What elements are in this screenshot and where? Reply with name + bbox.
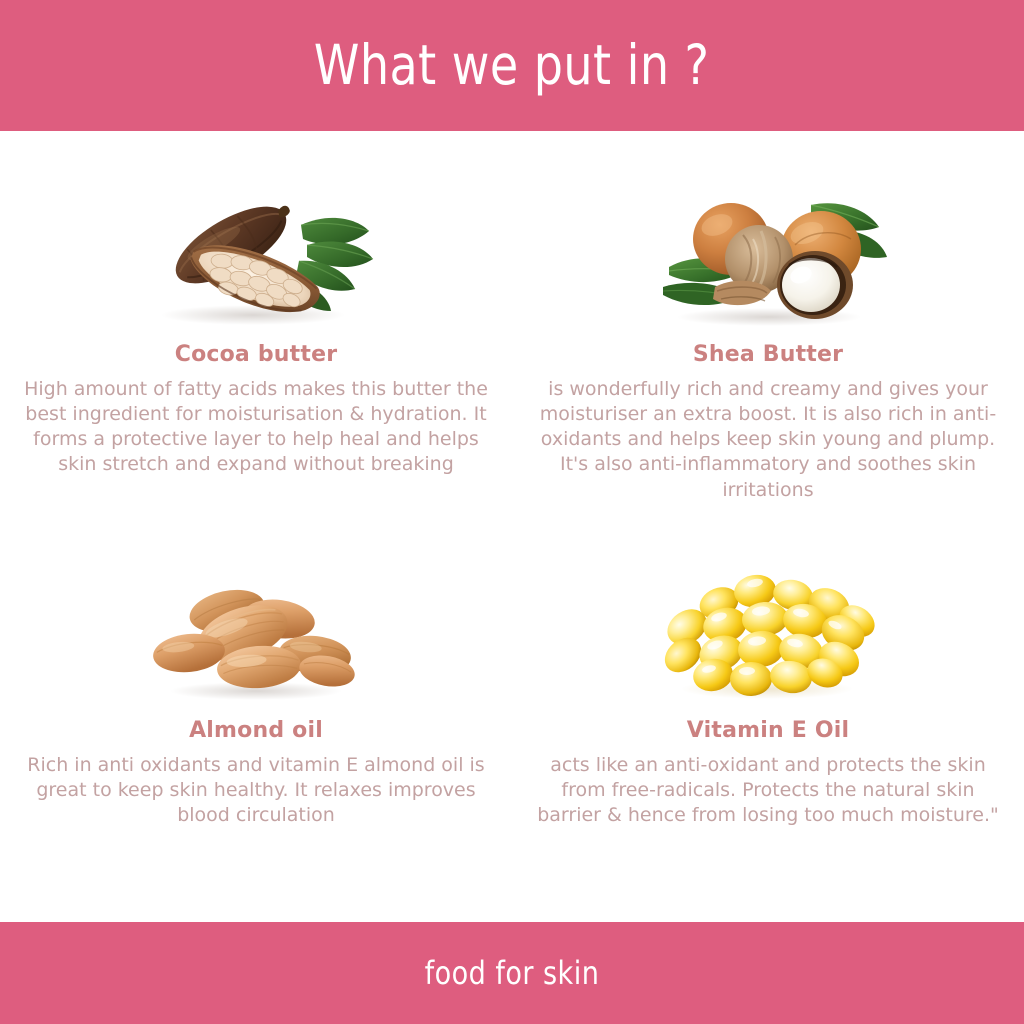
vitamin-e-capsules-icon (643, 563, 893, 703)
ingredient-description: acts like an anti-oxidant and protects t… (533, 753, 1003, 828)
infographic-page: What we put in ? (0, 0, 1024, 1024)
ingredient-card-vitamin-e-oil: Vitamin E Oil acts like an anti-oxidant … (512, 529, 1024, 923)
ingredient-card-shea-butter: Shea Butter is wonderfully rich and crea… (512, 135, 1024, 529)
ingredient-description: is wonderfully rich and creamy and gives… (533, 377, 1003, 502)
page-title: What we put in ? (314, 38, 710, 93)
ingredient-title: Almond oil (189, 719, 323, 743)
ingredient-description: Rich in anti oxidants and vitamin E almo… (16, 753, 496, 828)
footer-bar: food for skin (0, 922, 1024, 1024)
almonds-icon (131, 563, 381, 703)
ingredient-grid: Cocoa butter High amount of fatty acids … (0, 131, 1024, 922)
ingredient-card-almond-oil: Almond oil Rich in anti oxidants and vit… (0, 529, 512, 923)
shea-nuts-icon (643, 187, 893, 327)
ingredient-title: Cocoa butter (175, 343, 338, 367)
ingredient-title: Vitamin E Oil (687, 719, 849, 743)
header-bar: What we put in ? (0, 0, 1024, 131)
cocoa-pod-icon (131, 187, 381, 327)
ingredient-card-cocoa-butter: Cocoa butter High amount of fatty acids … (0, 135, 512, 529)
ingredient-description: High amount of fatty acids makes this bu… (16, 377, 496, 477)
footer-tagline: food for skin (425, 954, 600, 992)
ingredient-title: Shea Butter (693, 343, 843, 367)
